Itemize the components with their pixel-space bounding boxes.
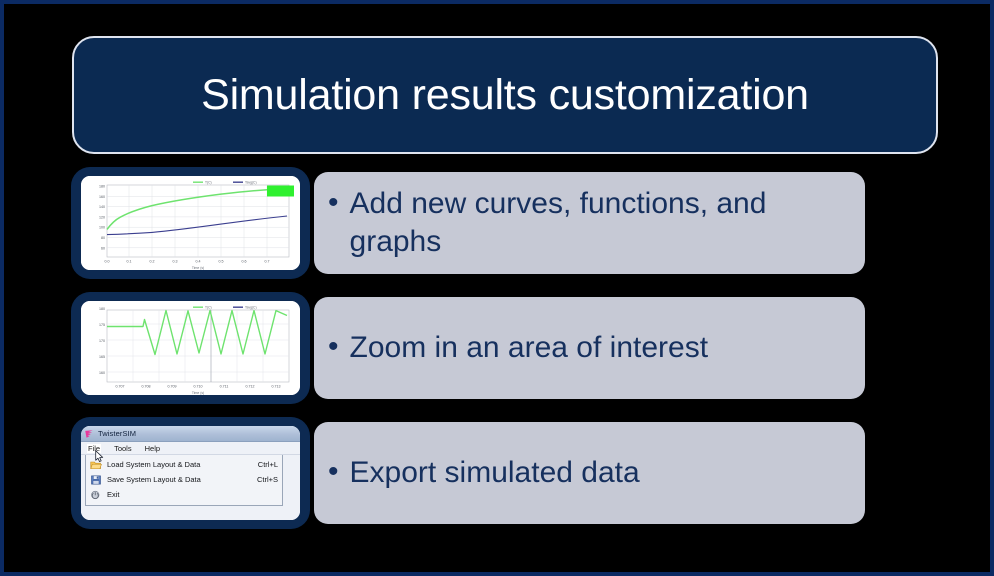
twister-icon <box>84 429 94 439</box>
svg-text:0.6: 0.6 <box>242 260 247 264</box>
menu-item-save-system-layout[interactable]: Save System Layout & Data Ctrl+S <box>86 472 282 487</box>
svg-text:Time (s): Time (s) <box>192 266 204 270</box>
svg-text:0.1: 0.1 <box>127 260 132 264</box>
floppy-disk-icon <box>90 474 102 485</box>
content-row-2: • Zoom in an area of interest <box>72 293 865 403</box>
svg-text:160: 160 <box>99 371 105 375</box>
bullet-panel-2: • Zoom in an area of interest <box>314 297 865 399</box>
thumbnail-frame-plot-two-curves[interactable]: 180 160 140 120 100 80 60 0.0 0.1 0.2 0.… <box>72 168 309 278</box>
svg-text:T(C): T(C) <box>205 180 212 184</box>
menu-file[interactable]: File <box>87 444 101 453</box>
selection-highlight <box>267 186 294 197</box>
file-menu-dropdown: Load System Layout & Data Ctrl+L Save Sy… <box>85 455 283 506</box>
bullet-panel-3: • Export simulated data <box>314 422 865 524</box>
bullet-text-3: Export simulated data <box>350 454 640 492</box>
svg-text:0.7: 0.7 <box>265 260 270 264</box>
svg-text:160: 160 <box>99 195 105 199</box>
menu-item-exit-label: Exit <box>107 490 278 499</box>
svg-text:0.711: 0.711 <box>220 385 229 389</box>
svg-text:0.709: 0.709 <box>168 385 177 389</box>
svg-text:T(C): T(C) <box>205 305 212 309</box>
twistersim-window: TwisterSIM File Tools Help <box>81 426 300 520</box>
menu-item-save-label: Save System Layout & Data <box>107 475 257 484</box>
bullet-marker-3: • <box>328 454 339 490</box>
chart-two-curves: 180 160 140 120 100 80 60 0.0 0.1 0.2 0.… <box>81 176 300 270</box>
svg-text:0.713: 0.713 <box>272 385 281 389</box>
thumbnail-frame-twistersim-file-menu[interactable]: TwisterSIM File Tools Help <box>72 418 309 528</box>
page-title: Simulation results customization <box>201 71 809 120</box>
svg-text:175: 175 <box>99 323 105 327</box>
svg-text:120: 120 <box>99 215 105 219</box>
exit-icon <box>90 489 102 500</box>
chart-zoomed-oscillation: 180 175 170 165 160 0.707 0.708 0.709 0.… <box>81 301 300 395</box>
content-row-3: • Export simulated data TwisterSIM File … <box>72 418 865 528</box>
menu-item-exit[interactable]: Exit <box>86 487 282 502</box>
bullet-text-1: Add new curves, functions, and graphs <box>350 185 850 261</box>
svg-text:0.707: 0.707 <box>116 385 125 389</box>
bullet-panel-1: • Add new curves, functions, and graphs <box>314 172 865 274</box>
svg-text:140: 140 <box>99 205 105 209</box>
menu-tools[interactable]: Tools <box>114 444 132 453</box>
menu-help[interactable]: Help <box>145 444 160 453</box>
svg-text:180: 180 <box>99 185 105 189</box>
thumbnail-frame-plot-zoomed-oscillation[interactable]: 180 175 170 165 160 0.707 0.708 0.709 0.… <box>72 293 309 403</box>
svg-text:170: 170 <box>99 339 105 343</box>
svg-text:100: 100 <box>99 226 105 230</box>
svg-text:0.2: 0.2 <box>150 260 155 264</box>
slide: Simulation results customization • Add n… <box>0 0 994 576</box>
svg-text:0.5: 0.5 <box>219 260 224 264</box>
menu-item-load-system-layout[interactable]: Load System Layout & Data Ctrl+L <box>86 457 282 472</box>
bullet-marker-1: • <box>328 185 339 221</box>
svg-text:Tavg(C): Tavg(C) <box>245 180 257 184</box>
thumbnail-image-plot-two-curves: 180 160 140 120 100 80 60 0.0 0.1 0.2 0.… <box>81 176 300 270</box>
svg-text:60: 60 <box>101 246 105 250</box>
content-row-1: • Add new curves, functions, and graphs <box>72 168 865 278</box>
app-titlebar: TwisterSIM <box>81 426 300 442</box>
thumbnail-image-plot-zoomed-oscillation: 180 175 170 165 160 0.707 0.708 0.709 0.… <box>81 301 300 395</box>
menu-item-load-shortcut: Ctrl+L <box>258 460 278 469</box>
svg-text:80: 80 <box>101 236 105 240</box>
svg-text:0.712: 0.712 <box>246 385 255 389</box>
menu-item-load-label: Load System Layout & Data <box>107 460 258 469</box>
svg-text:165: 165 <box>99 355 105 359</box>
svg-text:0.4: 0.4 <box>196 260 201 264</box>
svg-text:Tavg(C): Tavg(C) <box>245 305 257 309</box>
bullet-marker-2: • <box>328 329 339 365</box>
bullet-text-2: Zoom in an area of interest <box>350 329 709 367</box>
app-menubar: File Tools Help <box>81 442 300 455</box>
svg-text:0.708: 0.708 <box>142 385 151 389</box>
thumbnail-image-twistersim-file-menu: TwisterSIM File Tools Help <box>81 426 300 520</box>
svg-text:0.0: 0.0 <box>105 260 110 264</box>
menu-item-save-shortcut: Ctrl+S <box>257 475 278 484</box>
svg-text:0.3: 0.3 <box>173 260 178 264</box>
open-folder-icon <box>90 459 102 470</box>
svg-text:180: 180 <box>99 307 105 311</box>
app-title: TwisterSIM <box>98 429 136 438</box>
svg-text:Time (s): Time (s) <box>192 391 204 395</box>
slide-title-box: Simulation results customization <box>72 36 938 154</box>
svg-text:0.710: 0.710 <box>194 385 203 389</box>
